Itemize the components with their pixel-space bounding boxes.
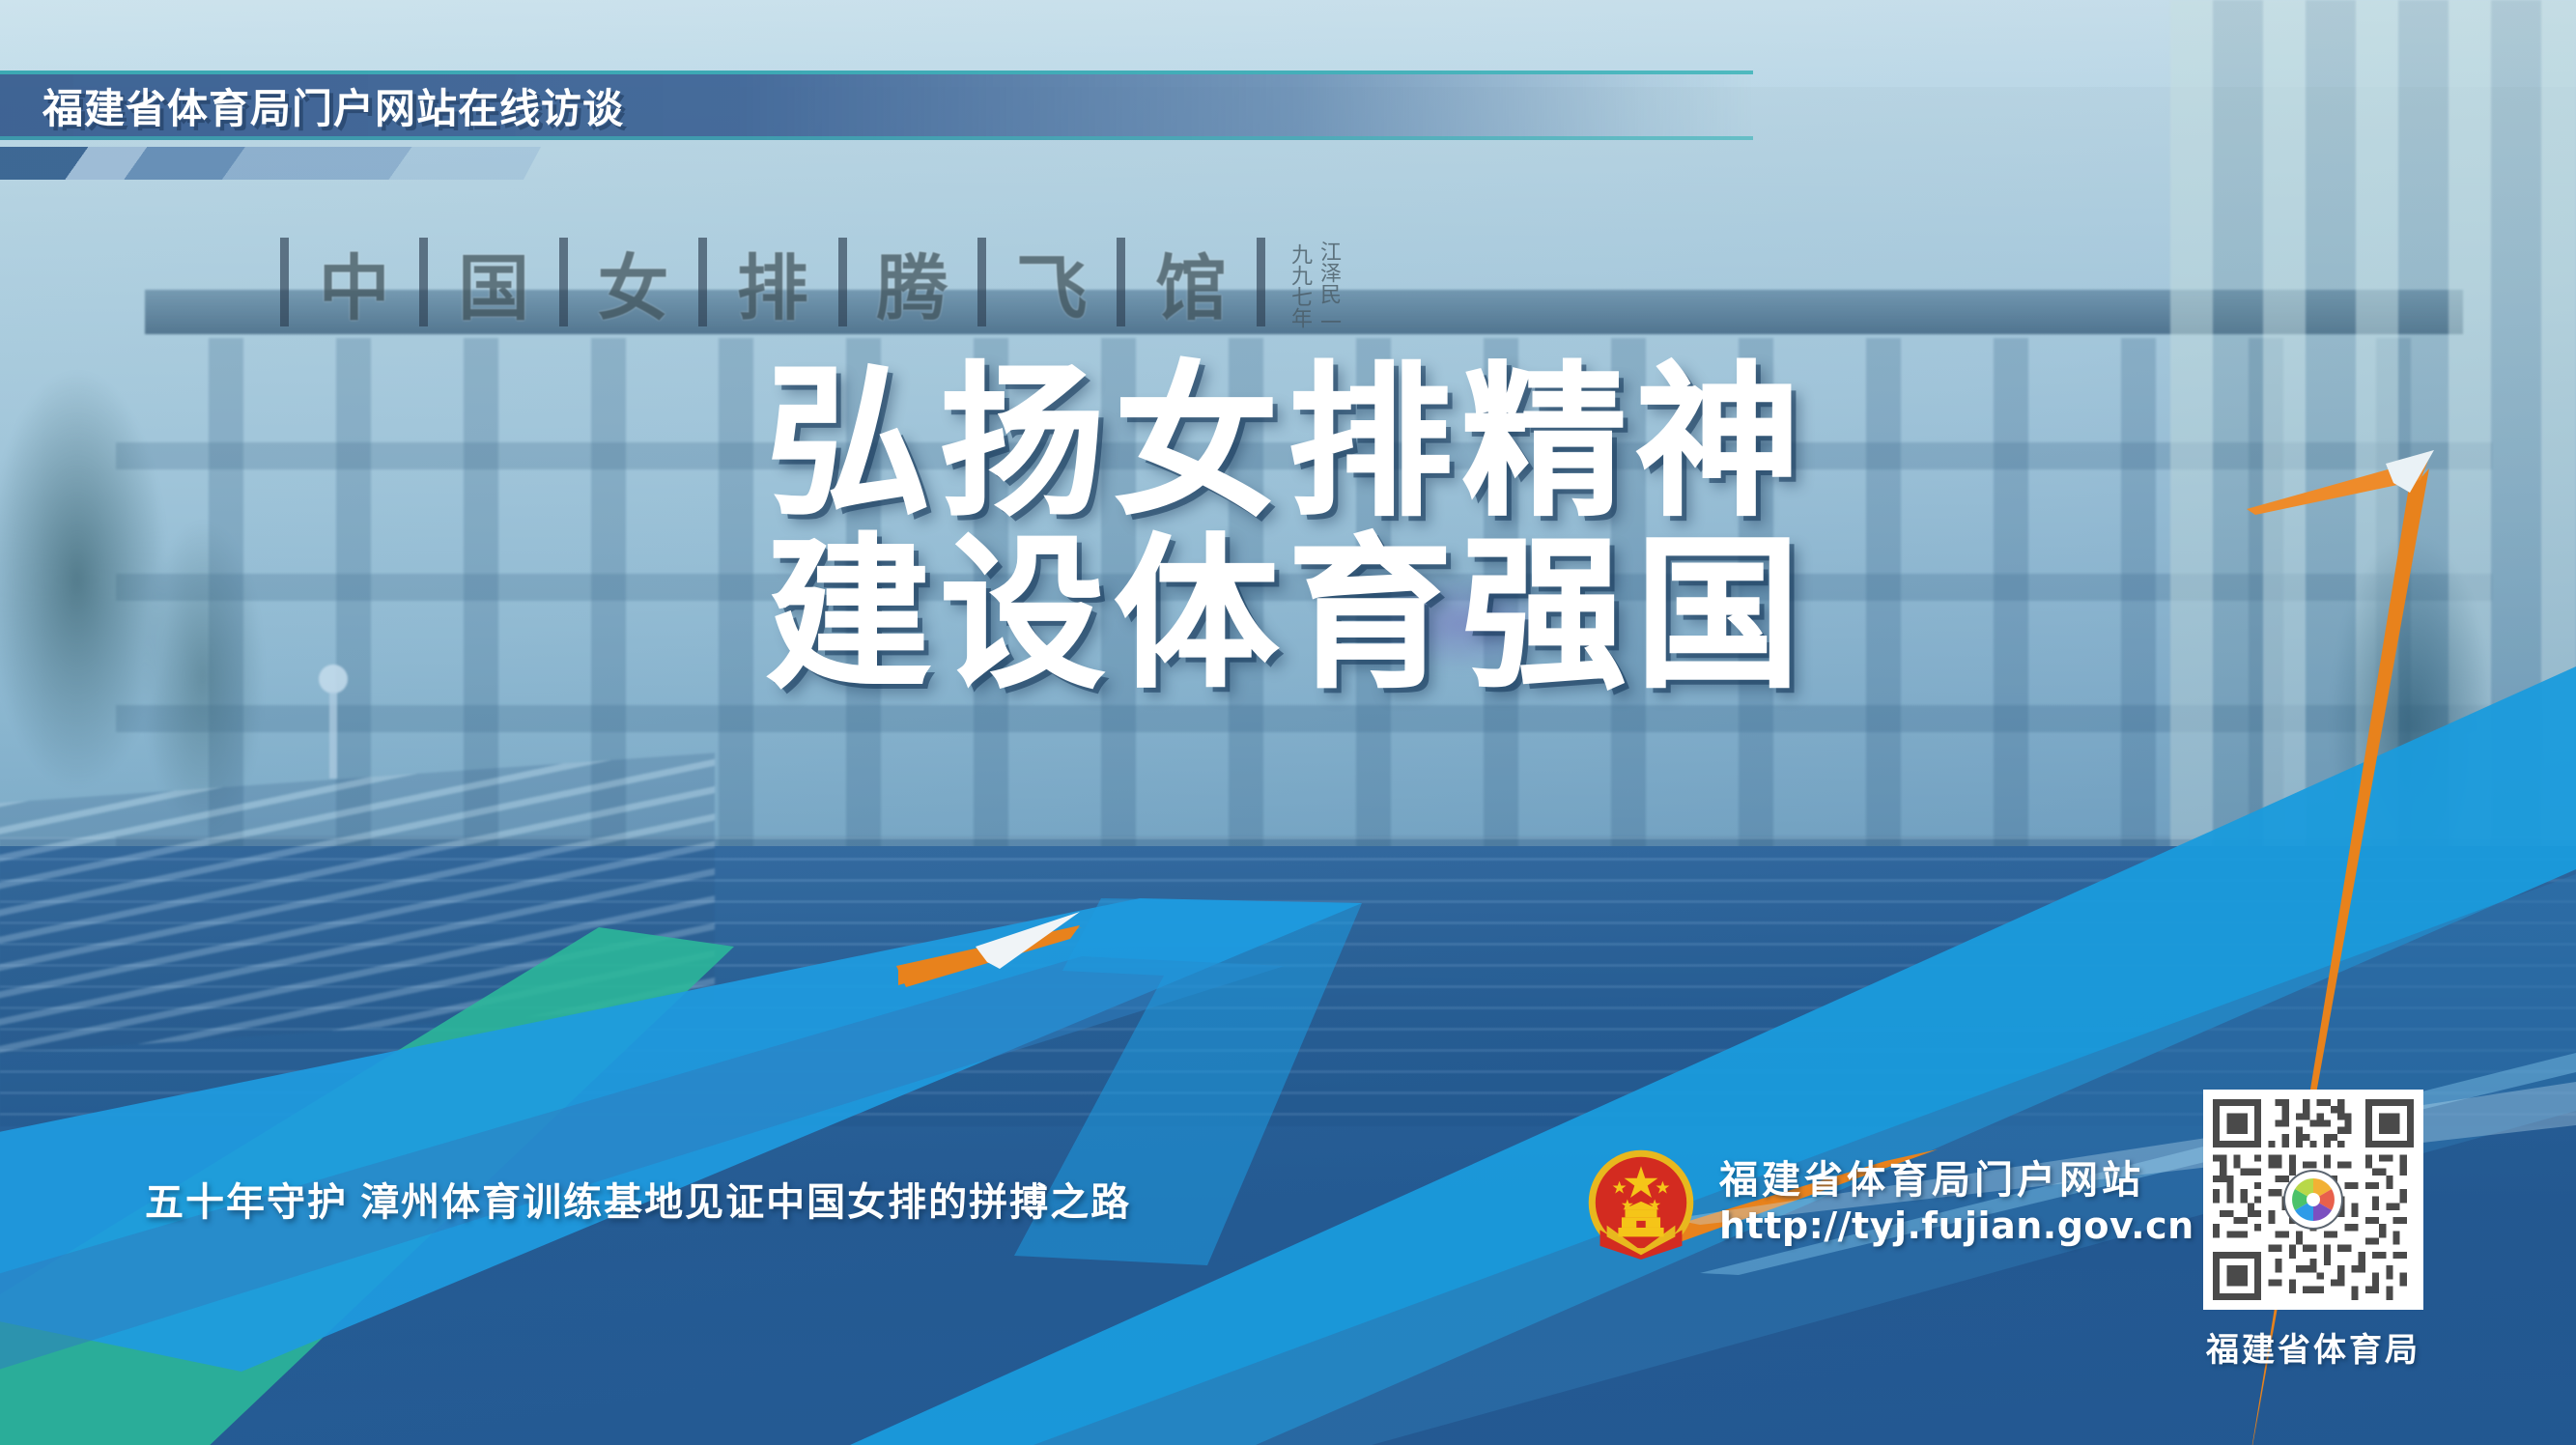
site-url[interactable]: http://tyj.fujian.gov.cn: [1719, 1204, 2194, 1248]
site-name: 福建省体育局门户网站: [1719, 1157, 2194, 1204]
poster-canvas: 中 国 女 排 腾 飞 馆 江泽民 一九九七年: [0, 0, 2576, 1445]
top-title-bar: 福建省体育局门户网站在线访谈: [0, 71, 1753, 140]
brand-block: 福建省体育局门户网站 http://tyj.fujian.gov.cn: [1584, 1146, 2194, 1260]
qr-block: 福建省体育局: [2197, 1090, 2429, 1371]
poster-caption: 五十年守护 漳州体育训练基地见证中国女排的拼搏之路: [145, 1171, 1131, 1227]
page-title: 福建省体育局门户网站在线访谈: [42, 76, 624, 135]
color-aperture-icon: [2288, 1175, 2338, 1225]
qr-code[interactable]: [2203, 1090, 2423, 1310]
topbar-decoration-stripes: [0, 147, 541, 180]
qr-label: 福建省体育局: [2206, 1323, 2420, 1371]
china-national-emblem-icon: [1584, 1146, 1698, 1260]
brand-text-block: 福建省体育局门户网站 http://tyj.fujian.gov.cn: [1719, 1157, 2194, 1248]
